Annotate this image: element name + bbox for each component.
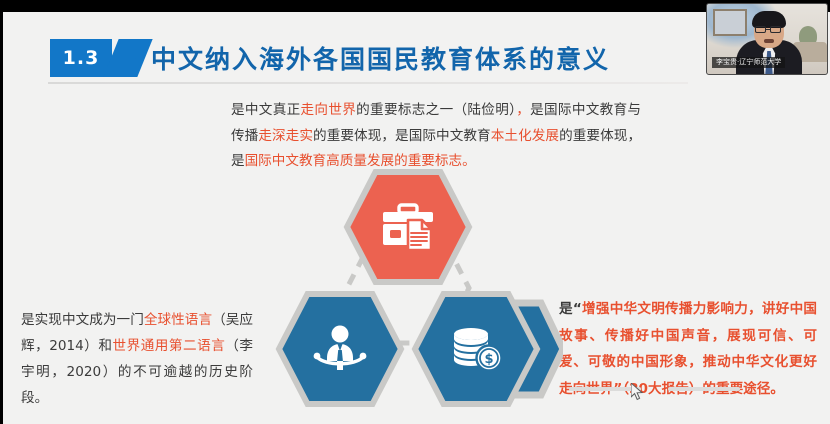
left-seg-2-highlight: 全球性语言 [144,312,212,328]
eyeglasses-left-lens-icon [755,26,766,33]
top-seg-4-highlight: ， [516,102,530,118]
slide-title: 中文纳入海外各国国民教育体系的意义 [151,40,610,76]
person-mouth [764,39,774,43]
participant-video-tile[interactable]: 李宝贵·辽宁师范大学 [706,3,828,75]
wall-picture-frame [713,9,747,36]
hexagon-shape-left [275,289,405,409]
hexagon-shape-top [343,167,473,287]
decorative-bar-right [668,387,740,391]
top-seg-8-highlight: 本土化发展 [491,128,559,144]
mouse-pointer-icon [631,383,644,401]
hexagon-node-top[interactable] [343,167,473,287]
hexagon-diagram: $ [258,167,588,412]
top-paragraph: 是中文真正走向世界的重要标志之一（陆俭明），是国际中文教育与传播走深走实的重要体… [231,98,641,175]
eyeglasses-bridge [766,29,770,30]
hexagon-node-left[interactable] [275,289,405,409]
header-divider [48,82,688,84]
left-seg-4-highlight: 世界通用第二语言 [113,338,226,354]
participant-name-label: 李宝贵·辽宁师范大学 [712,57,785,68]
slide-number-badge: 1.3 [50,39,112,77]
hexagon-node-right[interactable]: $ [411,289,541,409]
top-seg-1: 是中文真正 [231,102,301,118]
top-seg-7: 的重要体现，是国际中文教育 [313,128,491,144]
top-seg-2-highlight: 走向世界 [301,102,357,118]
hexagon-shape-right [411,289,541,409]
screen-root: 1.3 中文纳入海外各国国民教育体系的意义 是中文真正走向世界的重要标志之一（陆… [0,0,830,424]
top-seg-6-highlight: 走深走实 [258,128,313,144]
left-paragraph: 是实现中文成为一门全球性语言（吴应辉，2014）和世界通用第二语言（李宇明，20… [21,307,253,411]
eyeglasses-right-lens-icon [770,26,781,33]
top-seg-3: 的重要标志之一（陆俭明） [356,102,516,118]
left-seg-1: 是实现中文成为一门 [21,312,144,328]
